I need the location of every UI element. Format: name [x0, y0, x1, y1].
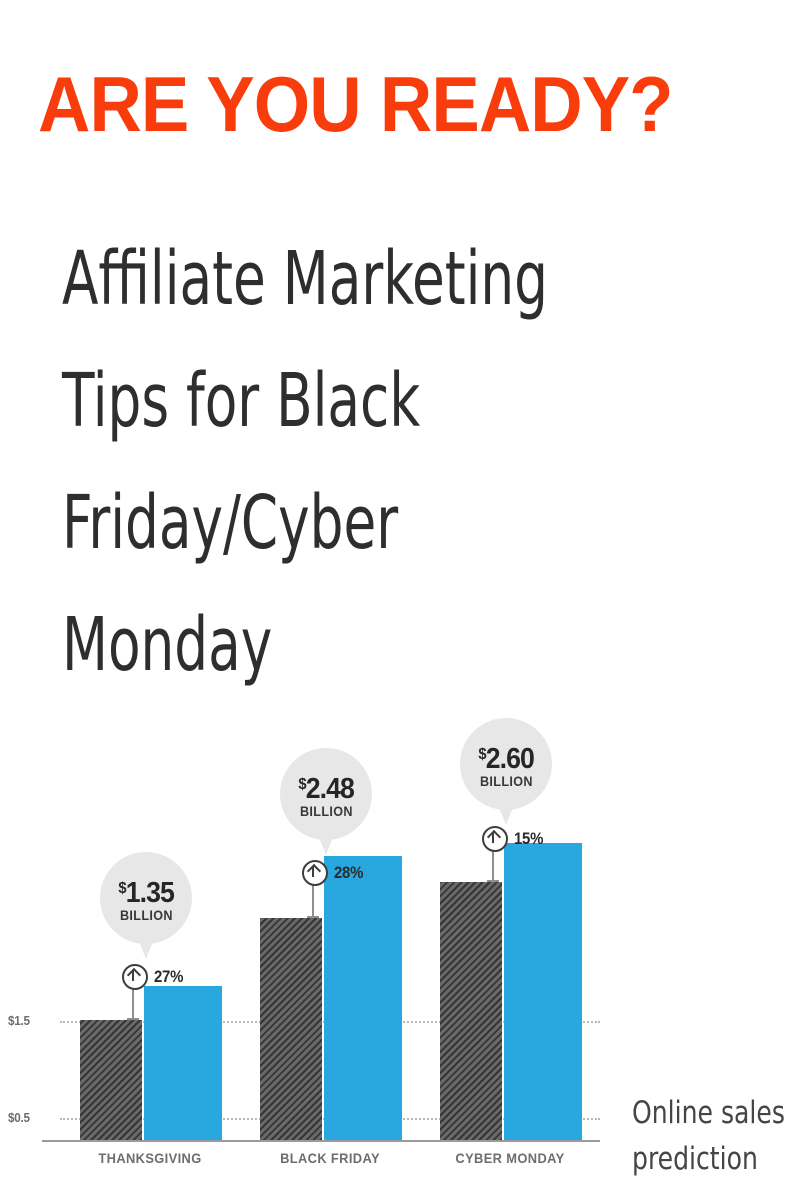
growth-value-cyber-monday: 15%: [514, 829, 543, 849]
value-unit-cyber-monday: BILLION: [480, 774, 533, 789]
value-unit-thanksgiving: BILLION: [120, 908, 173, 923]
bar-previous-cyber-monday: [440, 882, 502, 1140]
bar-previous-black-friday: [260, 918, 322, 1140]
chart-plot-area: $1.5 $0.5 27% $1.35 BILLION: [42, 745, 600, 1170]
currency-symbol: $: [118, 880, 125, 897]
headline: ARE YOU READY?: [38, 62, 726, 146]
value-bubble-black-friday: $2.48 BILLION: [280, 748, 372, 840]
value-number: 2.48: [306, 773, 354, 805]
currency-symbol: $: [298, 776, 305, 793]
x-label-thanksgiving: THANKSGIVING: [67, 1150, 233, 1166]
bar-group-thanksgiving: 27% $1.35 BILLION: [80, 810, 228, 1140]
bar-prediction-black-friday: [324, 856, 402, 1140]
subtitle-line-4: Monday: [62, 584, 606, 706]
bar-prediction-thanksgiving: [144, 986, 222, 1140]
arrow-up-circle-icon: [302, 860, 328, 886]
bar-prediction-cyber-monday: [504, 843, 582, 1140]
bar-group-cyber-monday: 15% $2.60 BILLION: [440, 810, 588, 1140]
currency-symbol: $: [478, 746, 485, 763]
y-tick-label-0-5: $0.5: [8, 1110, 30, 1125]
online-sales-bar-chart: $1.5 $0.5 27% $1.35 BILLION: [0, 745, 800, 1200]
subtitle-line-2: Tips for Black: [62, 340, 606, 462]
x-label-cyber-monday: CYBER MONDAY: [427, 1150, 593, 1166]
value-bubble-cyber-monday: $2.60 BILLION: [460, 718, 552, 810]
arrow-up-circle-icon: [122, 964, 148, 990]
subtitle-line-1: Affiliate Marketing: [62, 218, 606, 340]
x-label-black-friday: BLACK FRIDAY: [247, 1150, 413, 1166]
bar-group-black-friday: 28% $2.48 BILLION: [260, 810, 408, 1140]
subtitle: Affiliate Marketing Tips for Black Frida…: [62, 218, 606, 706]
value-number: 1.35: [126, 877, 174, 909]
value-amount-black-friday: $2.48: [298, 770, 354, 804]
value-amount-thanksgiving: $1.35: [118, 874, 174, 908]
chart-caption-line-1: Online sales: [632, 1090, 785, 1136]
x-axis-line: [42, 1140, 600, 1142]
growth-badge-black-friday: 28%: [302, 860, 367, 886]
pinterest-graphic: ARE YOU READY? Affiliate Marketing Tips …: [0, 0, 800, 1200]
value-unit-black-friday: BILLION: [300, 804, 353, 819]
growth-value-black-friday: 28%: [334, 863, 363, 883]
growth-badge-cyber-monday: 15%: [482, 826, 547, 852]
arrow-up-circle-icon: [482, 826, 508, 852]
subtitle-line-3: Friday/Cyber: [62, 462, 606, 584]
chart-caption: Online sales prediction: [632, 1090, 785, 1182]
value-amount-cyber-monday: $2.60: [478, 740, 534, 774]
chart-caption-line-2: prediction: [632, 1136, 785, 1182]
bar-previous-thanksgiving: [80, 1020, 142, 1140]
growth-value-thanksgiving: 27%: [154, 967, 183, 987]
y-tick-label-1-5: $1.5: [8, 1013, 30, 1028]
value-number: 2.60: [486, 743, 534, 775]
growth-badge-thanksgiving: 27%: [122, 964, 187, 990]
value-bubble-thanksgiving: $1.35 BILLION: [100, 852, 192, 944]
